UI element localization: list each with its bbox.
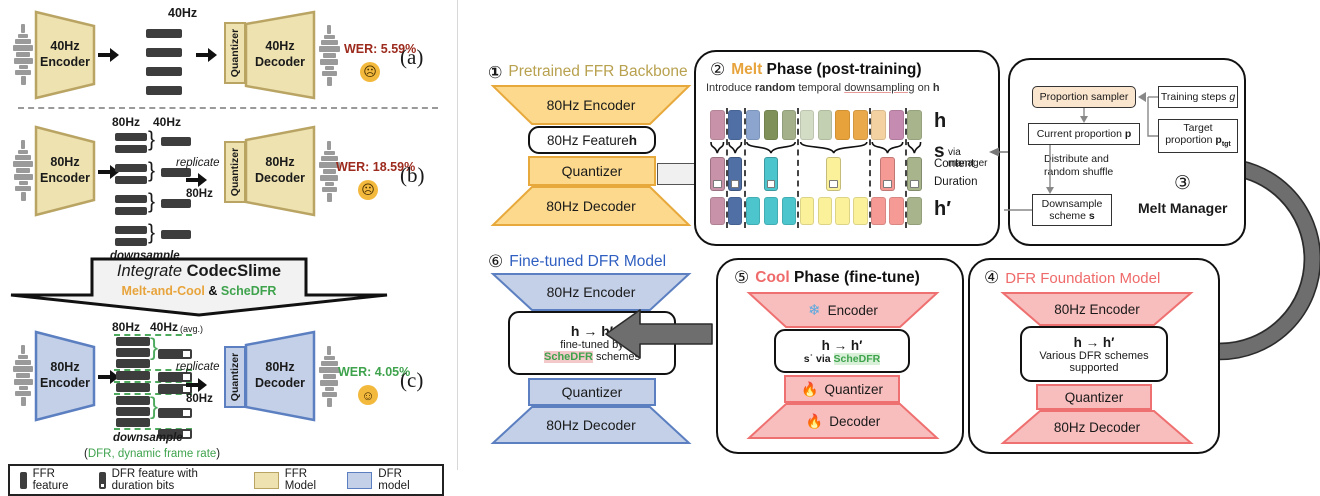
- duration-bit: [829, 180, 838, 188]
- step2-row-s: [710, 157, 925, 191]
- legend-label: DFR feature with duration bits: [112, 468, 238, 492]
- step6-quantizer-label: Quantizer: [562, 384, 623, 400]
- emoji-happy-c: ☺: [358, 385, 378, 405]
- cool-to-finetuned-arrow: [604, 305, 714, 363]
- group-brace: [908, 142, 921, 153]
- melt-s-cell: [710, 157, 725, 191]
- feature-bar: [161, 137, 191, 146]
- step2-header: ② Melt Phase (post-training): [710, 60, 922, 80]
- step6-decoder-label: 80Hz Decoder: [492, 406, 690, 444]
- sub-h: h: [933, 82, 940, 94]
- dfr-dynamic-label: DFR, dynamic frame rate: [88, 448, 216, 460]
- quantizer-a: Quantizer: [224, 22, 246, 84]
- panel-tag-b: (b): [400, 163, 425, 188]
- melt-hprime-cell: [907, 197, 922, 225]
- waveform-output-a: [318, 18, 340, 92]
- feature-bar: [146, 86, 182, 95]
- encoder-c-rate: 80Hz: [40, 360, 90, 376]
- melt-h-cell: [907, 110, 922, 140]
- sub-random: random: [755, 82, 795, 94]
- melt-hprime-cell: [746, 197, 761, 225]
- feature-bar: [146, 48, 182, 57]
- brace-green: }: [150, 393, 158, 421]
- feature-bar: [146, 29, 182, 38]
- downsample-caption-c: downsample: [113, 432, 183, 444]
- step5-schedfr: ScheDFR: [834, 353, 881, 365]
- replicate-label-c: replicate: [176, 361, 219, 373]
- step4-number: ④: [984, 268, 999, 288]
- legend-label: FFR feature: [33, 468, 83, 492]
- brace: }: [148, 128, 155, 152]
- encoder-a-name: Encoder: [40, 55, 90, 71]
- step2-group-braces: [710, 142, 925, 156]
- step1-feature-box: 80Hz Feature h: [528, 126, 656, 154]
- step1-connector-tab: [657, 163, 695, 185]
- decoder-c-name: Decoder: [255, 376, 305, 392]
- emoji-sad-a: ☹: [360, 62, 380, 82]
- amp-label: &: [208, 284, 217, 298]
- step1-decoder: 80Hz Decoder: [492, 186, 690, 226]
- sub-downsampling: downsampling: [844, 82, 914, 94]
- legend-item-dfr-model: DFR model: [347, 468, 426, 492]
- melt-h-cell: [746, 110, 761, 140]
- step5-mid-title: h → h′: [822, 338, 863, 353]
- sub-3: on: [915, 82, 933, 94]
- melt-h-cell: [835, 110, 850, 140]
- step1-feature-h: h: [629, 133, 637, 148]
- encoder-a-rate: 40Hz: [40, 39, 90, 55]
- group-brace: [729, 142, 742, 153]
- melt-h-cell: [853, 110, 868, 140]
- sub-1: Introduce: [706, 82, 755, 94]
- decoder-c: 80Hz Decoder: [244, 330, 316, 422]
- fire-icon: 🔥: [806, 413, 823, 430]
- column-separator: [457, 0, 458, 470]
- step5-title-cool: Cool: [755, 269, 789, 286]
- feature-bar: [115, 176, 147, 184]
- melt-h-cell: [728, 110, 743, 140]
- melt-h-cell: [818, 110, 833, 140]
- step4-decoder-label: 80Hz Decoder: [1002, 410, 1192, 444]
- melt-hprime-cell: [889, 197, 904, 225]
- step2-row-hprime: [710, 197, 925, 225]
- emoji-sad-b: ☹: [358, 180, 378, 200]
- feature-bar: [116, 396, 150, 405]
- step1-feature-text: 80Hz Feature: [547, 133, 629, 148]
- feature-bar: [116, 337, 150, 346]
- arrow-b-2: [186, 172, 208, 188]
- replicate-rate-c: 80Hz: [186, 393, 213, 405]
- decoder-a-name: Decoder: [255, 55, 305, 71]
- step2-title-melt: Melt: [731, 61, 762, 78]
- step5-mid-box: h → h′ s˙ via ScheDFR: [774, 329, 910, 373]
- melt-h-cell: [800, 110, 815, 140]
- integrate-italic: Integrate: [117, 262, 182, 280]
- duration-bit: [182, 350, 191, 358]
- feature-bar: [115, 207, 147, 215]
- encoder-b-rate: 80Hz: [40, 155, 90, 171]
- legend-label: DFR model: [378, 468, 426, 492]
- arrow-a-1: [98, 47, 120, 63]
- brace-green: }: [150, 334, 158, 362]
- encoder-c: 80Hz Encoder: [34, 330, 96, 422]
- melt-hprime-cell: [782, 197, 797, 225]
- step1-decoder-label: 80Hz Decoder: [492, 186, 690, 226]
- step3-melt-manager-panel: Proportion sampler Current proportion p …: [1008, 58, 1246, 246]
- duration-bit: [731, 180, 740, 188]
- step1-number: ①: [488, 64, 502, 81]
- step6-number: ⑥: [488, 252, 503, 272]
- step5-quantizer-label: Quantizer: [824, 382, 883, 397]
- legend-item-dfr-feature: DFR feature with duration bits: [99, 468, 238, 492]
- step2-melt-phase-panel: ② Melt Phase (post-training) Introduce r…: [694, 50, 1000, 246]
- step2-row-hprime-label: h′: [934, 198, 951, 221]
- step4-quantizer-label: Quantizer: [1065, 390, 1124, 405]
- melt-h-cell: [764, 110, 779, 140]
- step5-number: ⑤: [734, 268, 749, 288]
- step4-encoder: 80Hz Encoder: [1002, 292, 1192, 326]
- feature-bar: [115, 238, 147, 246]
- step1-title: Pretrained FFR Backbone: [508, 63, 687, 81]
- arrow-c-2: [186, 377, 208, 393]
- step4-quantizer: Quantizer: [1036, 384, 1152, 410]
- step1-encoder: 80Hz Encoder: [492, 85, 690, 125]
- decoder-a: 40Hz Decoder: [244, 10, 316, 100]
- step2-title-rest: Phase (post-training): [762, 61, 921, 78]
- encoder-b: 80Hz Encoder: [34, 125, 96, 217]
- melt-hprime-cell: [835, 197, 850, 225]
- legend-item-ffr-feature: FFR feature: [20, 468, 83, 492]
- brace: }: [148, 190, 155, 214]
- feature-bar: [115, 133, 147, 141]
- melt-h-cell: [710, 110, 725, 140]
- legend-box: FFR feature DFR feature with duration bi…: [8, 464, 444, 496]
- step4-decoder: 80Hz Decoder: [1002, 410, 1192, 444]
- step6-schedfr: ScheDFR: [544, 351, 593, 363]
- melt-s-cell: [764, 157, 779, 191]
- duration-bit: [182, 430, 191, 438]
- dfr-feature-bar: [158, 408, 192, 418]
- duration-bit: [910, 180, 919, 188]
- feature-bar: [115, 164, 147, 172]
- step6-title: Fine-tuned DFR Model: [509, 253, 666, 271]
- melt-s-cell: [826, 157, 841, 191]
- step5-mid-sub: s˙ via: [804, 353, 834, 365]
- ffr-model-swatch: [254, 472, 279, 489]
- melt-h-cell: [889, 110, 904, 140]
- group-brace: [747, 142, 795, 153]
- legend-item-ffr-model: FFR Model: [254, 468, 332, 492]
- step6-header: ⑥ Fine-tuned DFR Model: [488, 252, 666, 272]
- melt-hprime-cell: [853, 197, 868, 225]
- downsample-sub-c: (DFR, dynamic frame rate): [84, 448, 220, 460]
- encoder-b-name: Encoder: [40, 171, 90, 187]
- panel-divider-a-b: [18, 107, 438, 109]
- integrate-banner: Integrate CodecSlime Melt-and-Cool & Sch…: [8, 256, 390, 318]
- step5-quantizer: 🔥 Quantizer: [784, 375, 900, 403]
- feature-bar: [161, 230, 191, 239]
- decoder-b-rate: 80Hz: [255, 155, 305, 171]
- waveform-output-c: [318, 338, 340, 414]
- feature-bar: [116, 371, 150, 380]
- rate-label-c-left: 80Hz: [112, 320, 140, 334]
- quantizer-c-label: Quantizer: [229, 353, 241, 401]
- rate-label-c-avg: (avg.): [180, 324, 203, 334]
- step1-encoder-label: 80Hz Encoder: [492, 85, 690, 125]
- step1-header: ① Pretrained FFR Backbone: [488, 63, 688, 81]
- feature-bar: [116, 348, 150, 357]
- step2-row-h-label: h: [934, 110, 946, 133]
- brace: }: [148, 159, 155, 183]
- encoder-c-name: Encoder: [40, 376, 90, 392]
- group-brace: [872, 142, 902, 153]
- feature-bar: [116, 407, 150, 416]
- arrow-a-2: [196, 47, 218, 63]
- feature-bar: [115, 195, 147, 203]
- step4-mid-l1: Various DFR schemes: [1039, 350, 1148, 362]
- melt-hprime-cell: [800, 197, 815, 225]
- rate-label-c-right: 40Hz: [150, 320, 178, 334]
- brace: }: [148, 221, 155, 245]
- step4-title: DFR Foundation Model: [1005, 270, 1160, 287]
- quantizer-c: Quantizer: [224, 346, 246, 408]
- step3-connectors: [1010, 60, 1248, 248]
- quantizer-a-label: Quantizer: [229, 29, 241, 77]
- waveform-input-a: [12, 18, 34, 90]
- step1-quantizer-label: Quantizer: [562, 163, 623, 179]
- replicate-label-b: replicate: [176, 157, 219, 169]
- schedfr-label: ScheDFR: [221, 284, 277, 298]
- feature-bar: [115, 145, 147, 153]
- quantizer-b-label: Quantizer: [229, 148, 241, 196]
- step5-encoder: ❄ Encoder: [748, 292, 938, 328]
- ffr-feature-swatch: [20, 472, 27, 489]
- step5-title-rest: Phase (fine-tune): [790, 269, 920, 286]
- step2-legend-content: Content: [934, 158, 974, 170]
- dfr-feature-bar: [158, 349, 192, 359]
- quantizer-b: Quantizer: [224, 141, 246, 203]
- dfr-feature-swatch: [99, 472, 106, 489]
- rate-label-a: 40Hz: [168, 6, 197, 20]
- step4-mid-l2: supported: [1070, 362, 1119, 374]
- decoder-b-name: Decoder: [255, 171, 305, 187]
- step5-decoder-label: Decoder: [829, 414, 880, 429]
- encoder-a: 40Hz Encoder: [34, 10, 96, 100]
- integrate-bold: CodecSlime: [187, 262, 281, 280]
- step4-dfr-foundation-panel: ④ DFR Foundation Model 80Hz Encoder h → …: [968, 258, 1220, 454]
- step2-legend-duration: Duration: [934, 176, 977, 188]
- step5-decoder: 🔥 Decoder: [748, 403, 938, 439]
- feature-bar: [116, 359, 150, 368]
- group-brace: [711, 142, 724, 153]
- replicate-rate-b: 80Hz: [186, 188, 213, 200]
- feature-bar: [161, 199, 191, 208]
- melt-hprime-cell: [764, 197, 779, 225]
- step5-cool-phase-panel: ⑤ Cool Phase (fine-tune) ❄ Encoder h → h…: [716, 258, 964, 454]
- step4-encoder-label: 80Hz Encoder: [1002, 292, 1192, 326]
- duration-bit: [182, 409, 191, 417]
- rate-label-b-left: 80Hz: [112, 115, 140, 129]
- melt-hprime-cell: [871, 197, 886, 225]
- step4-header: ④ DFR Foundation Model: [984, 268, 1160, 288]
- feature-bar: [116, 418, 150, 427]
- duration-bit: [767, 180, 776, 188]
- step5-header: ⑤ Cool Phase (fine-tune): [734, 268, 920, 288]
- step1-quantizer: Quantizer: [528, 156, 656, 186]
- duration-bit: [883, 180, 892, 188]
- melt-s-cell: [728, 157, 743, 191]
- melt-and-cool-label: Melt-and-Cool: [122, 284, 205, 298]
- feature-bar: [115, 226, 147, 234]
- panel-tag-c: (c): [400, 368, 423, 393]
- decoder-a-rate: 40Hz: [255, 39, 305, 55]
- legend-label: FFR Model: [285, 468, 332, 492]
- melt-hprime-cell: [818, 197, 833, 225]
- fire-icon: 🔥: [801, 381, 818, 398]
- dfr-model-swatch: [347, 472, 372, 489]
- melt-s-cell: [907, 157, 922, 191]
- step2-subtitle: Introduce random temporal downsampling o…: [706, 82, 940, 94]
- feature-bar: [146, 67, 182, 76]
- feature-bar: [116, 383, 150, 392]
- panel-tag-a: (a): [400, 45, 423, 70]
- step4-mid-title: h → h′: [1074, 335, 1115, 350]
- step5-encoder-label: Encoder: [828, 303, 878, 318]
- step2-row-h: [710, 110, 925, 140]
- step6-decoder: 80Hz Decoder: [492, 406, 690, 444]
- rate-label-b-right: 40Hz: [153, 115, 181, 129]
- step2-number: ②: [710, 60, 725, 80]
- step4-mid-box: h → h′ Various DFR schemes supported: [1020, 326, 1168, 382]
- melt-h-cell: [871, 110, 886, 140]
- melt-hprime-cell: [710, 197, 725, 225]
- sub-2: temporal: [795, 82, 844, 94]
- melt-h-cell: [782, 110, 797, 140]
- group-brace: [801, 142, 867, 153]
- waveform-input-b: [12, 133, 34, 207]
- melt-hprime-cell: [728, 197, 743, 225]
- decoder-c-rate: 80Hz: [255, 360, 305, 376]
- step6-quantizer: Quantizer: [528, 378, 656, 406]
- snowflake-icon: ❄: [808, 301, 821, 319]
- waveform-input-c: [12, 338, 34, 412]
- melt-s-cell: [880, 157, 895, 191]
- duration-bit: [713, 180, 722, 188]
- decoder-b: 80Hz Decoder: [244, 125, 316, 217]
- paren-close: ): [216, 448, 220, 460]
